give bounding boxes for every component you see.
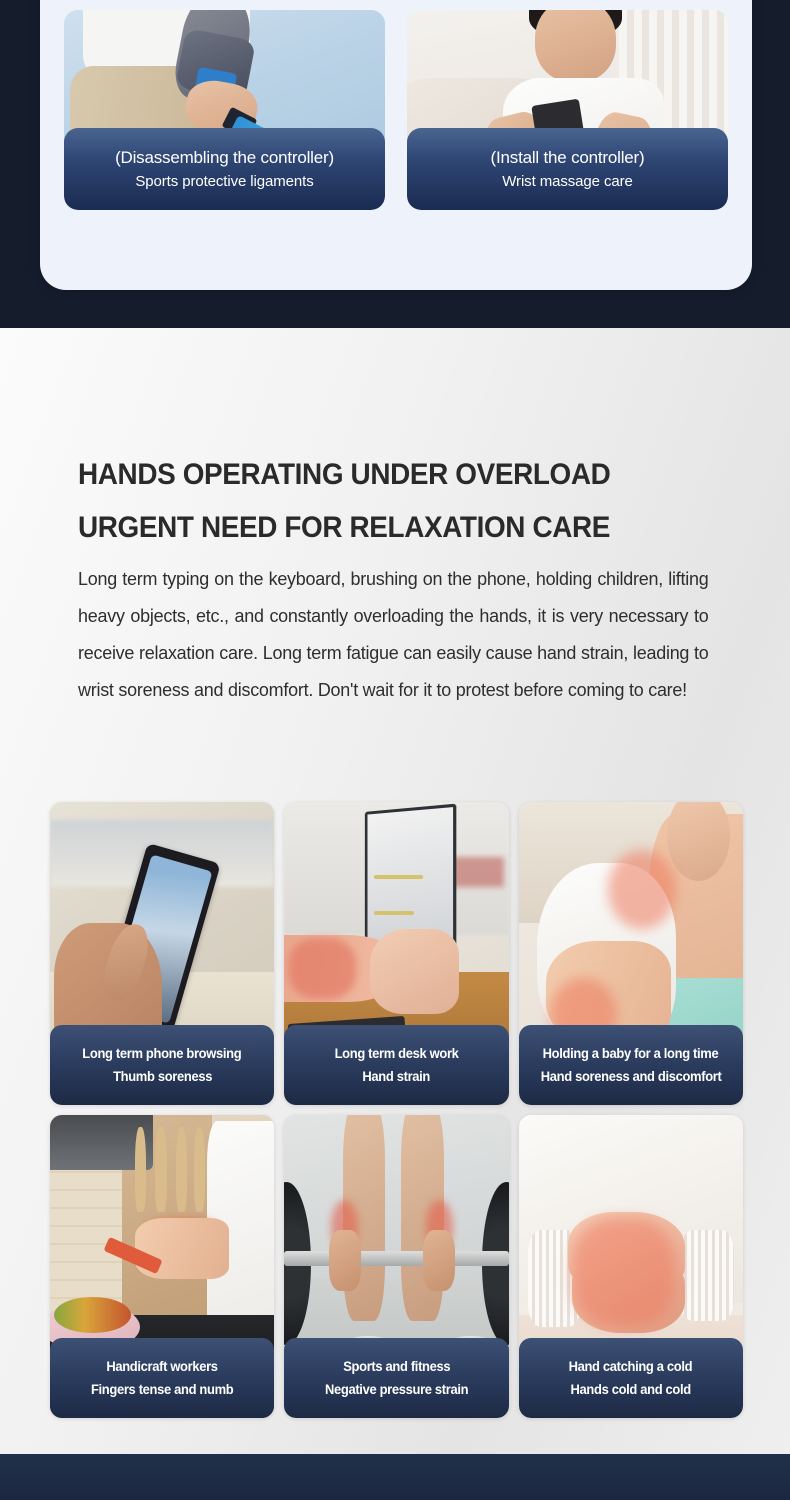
card-caption: Holding a baby for a long time Hand sore… — [519, 1025, 743, 1105]
top-card-title: (Install the controller) — [491, 148, 645, 168]
top-light-panel: (Disassembling the controller) Sports pr… — [40, 0, 752, 290]
card-subtitle: Negative pressure strain — [325, 1382, 468, 1397]
card-title: Hand catching a cold — [569, 1359, 693, 1374]
card-hand-catching-cold[interactable]: Hand catching a cold Hands cold and cold — [519, 1115, 743, 1418]
card-caption: Long term phone browsing Thumb soreness — [50, 1025, 274, 1105]
top-dark-band: (Disassembling the controller) Sports pr… — [0, 0, 790, 328]
top-card-title: (Disassembling the controller) — [115, 148, 334, 168]
card-handicraft-workers[interactable]: Handicraft workers Fingers tense and num… — [50, 1115, 274, 1418]
card-caption: Hand catching a cold Hands cold and cold — [519, 1338, 743, 1418]
card-caption: Sports and fitness Negative pressure str… — [284, 1338, 508, 1418]
card-title: Holding a baby for a long time — [543, 1046, 719, 1061]
top-card-row: (Disassembling the controller) Sports pr… — [64, 10, 728, 210]
top-card-caption: (Disassembling the controller) Sports pr… — [64, 128, 385, 210]
use-case-card-grid: Long term phone browsing Thumb soreness … — [50, 802, 743, 1418]
top-card-subtitle: Wrist massage care — [502, 173, 632, 190]
card-subtitle: Hand strain — [363, 1069, 431, 1084]
bottom-dark-band — [0, 1454, 790, 1500]
card-caption: Long term desk work Hand strain — [284, 1025, 508, 1105]
card-caption: Handicraft workers Fingers tense and num… — [50, 1338, 274, 1418]
card-title: Long term phone browsing — [83, 1046, 242, 1061]
headline-line-1: HANDS OPERATING UNDER OVERLOAD — [78, 448, 683, 501]
body-paragraph: Long term typing on the keyboard, brushi… — [78, 560, 709, 708]
card-phone-browsing[interactable]: Long term phone browsing Thumb soreness — [50, 802, 274, 1105]
top-card-caption: (Install the controller) Wrist massage c… — [407, 128, 728, 210]
card-title: Long term desk work — [335, 1046, 459, 1061]
main-content-section: HANDS OPERATING UNDER OVERLOAD URGENT NE… — [0, 328, 790, 1454]
card-subtitle: Hand soreness and discomfort — [540, 1069, 721, 1084]
card-title: Sports and fitness — [343, 1359, 450, 1374]
card-desk-work[interactable]: Long term desk work Hand strain — [284, 802, 508, 1105]
card-title: Handicraft workers — [106, 1359, 217, 1374]
top-card-disassembling-controller[interactable]: (Disassembling the controller) Sports pr… — [64, 10, 385, 210]
card-subtitle: Fingers tense and numb — [91, 1382, 233, 1397]
card-sports-fitness[interactable]: Sports and fitness Negative pressure str… — [284, 1115, 508, 1418]
card-subtitle: Hands cold and cold — [571, 1382, 691, 1397]
top-card-install-controller[interactable]: (Install the controller) Wrist massage c… — [407, 10, 728, 210]
card-holding-baby[interactable]: Holding a baby for a long time Hand sore… — [519, 802, 743, 1105]
top-card-subtitle: Sports protective ligaments — [135, 173, 313, 190]
page-title: HANDS OPERATING UNDER OVERLOAD URGENT NE… — [78, 448, 683, 554]
headline-line-2: URGENT NEED FOR RELAXATION CARE — [78, 501, 683, 554]
card-subtitle: Thumb soreness — [113, 1069, 212, 1084]
product-marketing-page: (Disassembling the controller) Sports pr… — [0, 0, 790, 1500]
